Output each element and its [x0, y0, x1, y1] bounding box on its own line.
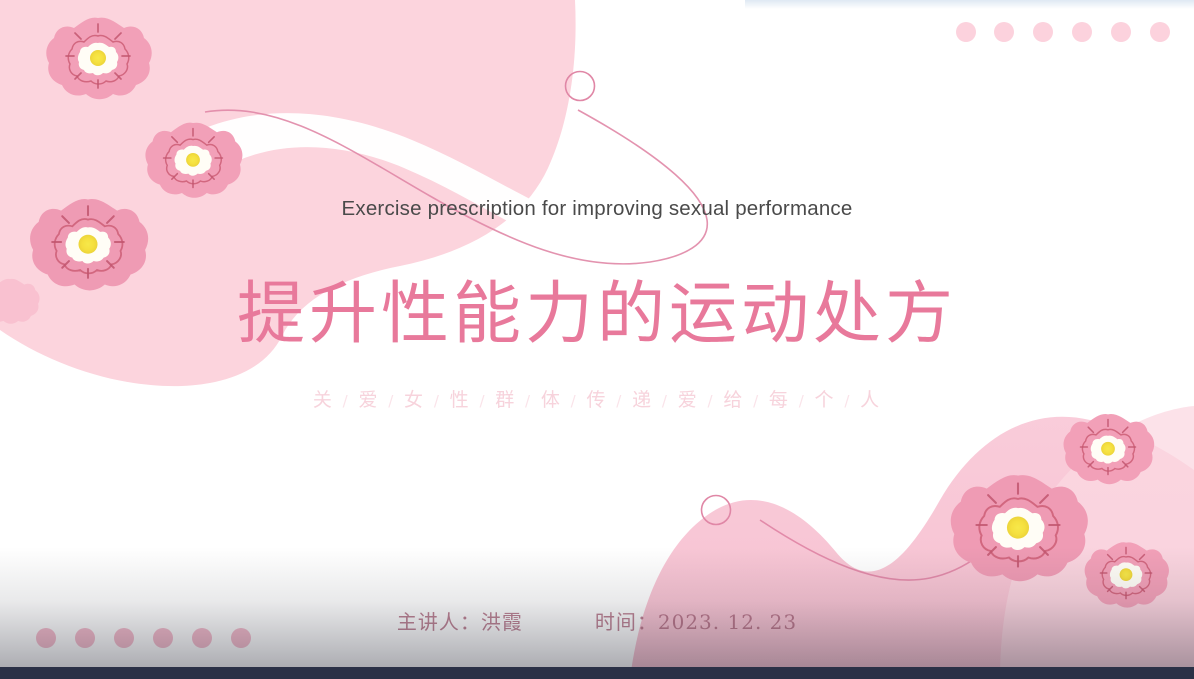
- tagline-word: 关: [313, 389, 334, 411]
- top-right-dot-row: [956, 22, 1170, 42]
- tagline-word: 递: [632, 389, 653, 411]
- tagline-word: 爱: [678, 389, 699, 411]
- tagline-word: 每: [769, 389, 790, 411]
- speaker-name: 洪霞: [481, 610, 523, 634]
- decor-dot: [1033, 22, 1053, 42]
- decor-dot: [1072, 22, 1092, 42]
- tagline-separator: /: [516, 392, 541, 410]
- tagline-separator: /: [425, 392, 450, 410]
- decor-dot: [994, 22, 1014, 42]
- date-value: 2023. 12. 23: [658, 610, 797, 634]
- decor-dot: [1111, 22, 1131, 42]
- tagline-word: 体: [541, 389, 562, 411]
- decor-dot: [956, 22, 976, 42]
- subtitle-english: Exercise prescription for improving sexu…: [0, 197, 1194, 221]
- tagline-word: 性: [450, 389, 471, 411]
- tagline-separator: /: [334, 392, 359, 410]
- tagline-separator: /: [836, 392, 861, 410]
- tagline-word: 女: [404, 389, 425, 411]
- tagline-word: 个: [815, 389, 836, 411]
- tagline-word: 人: [860, 389, 881, 411]
- tagline-word: 给: [723, 389, 744, 411]
- page-title: 提升性能力的运动处方: [0, 258, 1194, 357]
- speaker-label: 主讲人：: [397, 610, 481, 634]
- video-player-bar[interactable]: [0, 667, 1194, 679]
- tagline-separator: /: [744, 392, 769, 410]
- slide-canvas: Exercise prescription for improving sexu…: [0, 0, 1194, 679]
- tagline-separator: /: [379, 392, 404, 410]
- tagline-separator: /: [699, 392, 724, 410]
- tagline-separator: /: [562, 392, 587, 410]
- tagline-separator: /: [653, 392, 678, 410]
- footer-meta: 主讲人：洪霞时间：2023. 12. 23: [0, 606, 1194, 635]
- tagline-word: 群: [495, 389, 516, 411]
- tagline-separator: /: [471, 392, 496, 410]
- date-label: 时间：: [595, 610, 658, 634]
- tagline-separator: /: [790, 392, 815, 410]
- decor-dot: [1150, 22, 1170, 42]
- tagline: 关 / 爱 / 女 / 性 / 群 / 体 / 传 / 递 / 爱 / 给 / …: [0, 385, 1194, 412]
- tagline-word: 爱: [358, 389, 379, 411]
- tagline-word: 传: [586, 389, 607, 411]
- tagline-separator: /: [608, 392, 633, 410]
